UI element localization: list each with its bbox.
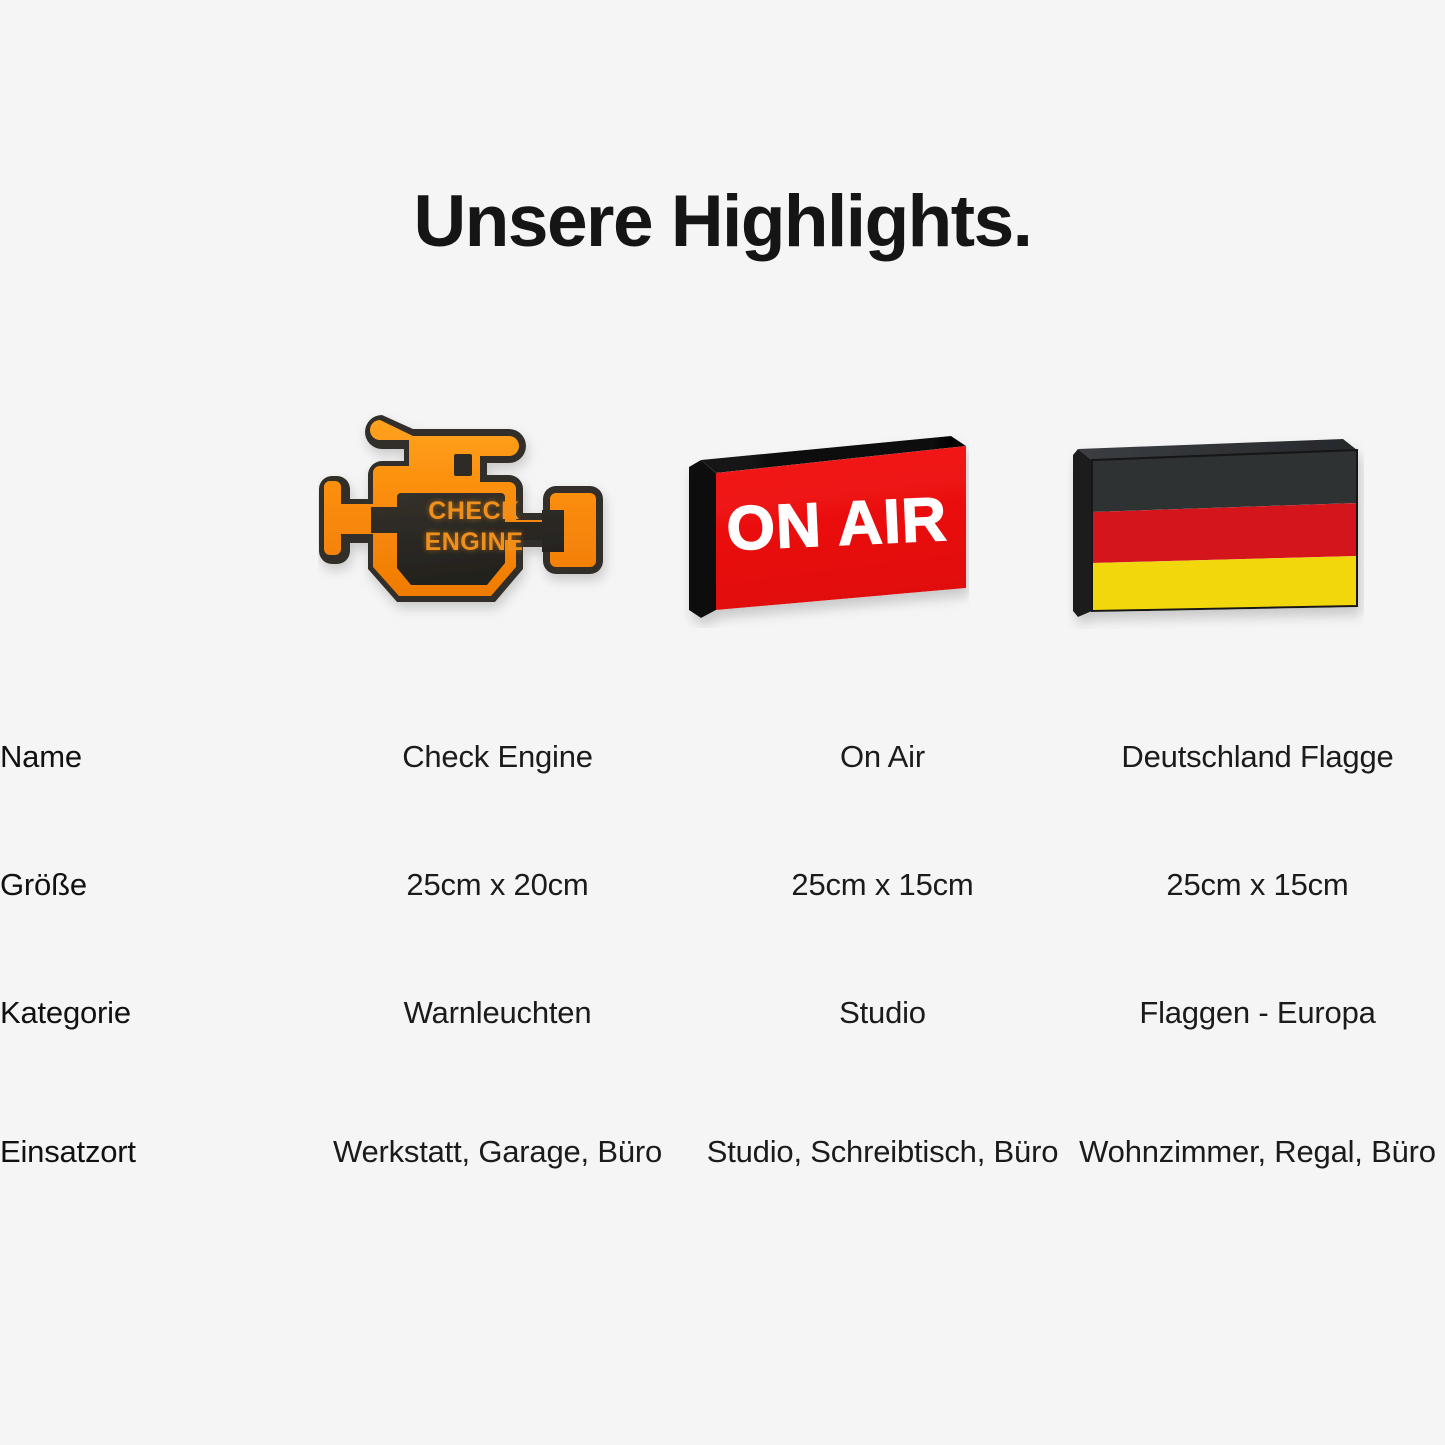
cell-name-on-air: On Air [695, 693, 1070, 821]
cell-category-on-air: Studio [695, 949, 1070, 1077]
table-row-einsatzort: Einsatzort Werkstatt, Garage, Büro Studi… [0, 1077, 1445, 1227]
row-label-groesse: Größe [0, 821, 300, 949]
cell-name-deutschland-flagge: Deutschland Flagge [1070, 693, 1445, 821]
cell-size-on-air: 25cm x 15cm [695, 821, 1070, 949]
cell-location-deutschland-flagge: Wohnzimmer, Regal, Büro [1070, 1077, 1445, 1227]
cell-category-check-engine: Warnleuchten [300, 949, 695, 1077]
table-row-groesse: Größe 25cm x 20cm 25cm x 15cm 25cm x 15c… [0, 821, 1445, 949]
table-row-name: Name Check Engine On Air Deutschland Fla… [0, 693, 1445, 821]
product-image-deutschland-flagge[interactable] [1068, 429, 1364, 629]
cell-size-deutschland-flagge: 25cm x 15cm [1070, 821, 1445, 949]
product-spec-table: Name Check Engine On Air Deutschland Fla… [0, 693, 1445, 1227]
page-title: Unsere Highlights. [0, 182, 1445, 262]
highlights-page: Unsere Highlights. [0, 0, 1445, 1445]
cell-category-deutschland-flagge: Flaggen - Europa [1070, 949, 1445, 1077]
row-label-name: Name [0, 693, 300, 821]
row-label-einsatzort: Einsatzort [0, 1077, 300, 1227]
cell-location-check-engine: Werkstatt, Garage, Büro [300, 1077, 695, 1227]
row-label-kategorie: Kategorie [0, 949, 300, 1077]
cell-size-check-engine: 25cm x 20cm [300, 821, 695, 949]
table-row-kategorie: Kategorie Warnleuchten Studio Flaggen - … [0, 949, 1445, 1077]
product-image-on-air[interactable]: ON AIR [683, 432, 969, 628]
cell-location-on-air: Studio, Schreibtisch, Büro [695, 1077, 1070, 1227]
product-image-check-engine[interactable]: CHECK ENGINE [318, 413, 630, 645]
cell-name-check-engine: Check Engine [300, 693, 695, 821]
